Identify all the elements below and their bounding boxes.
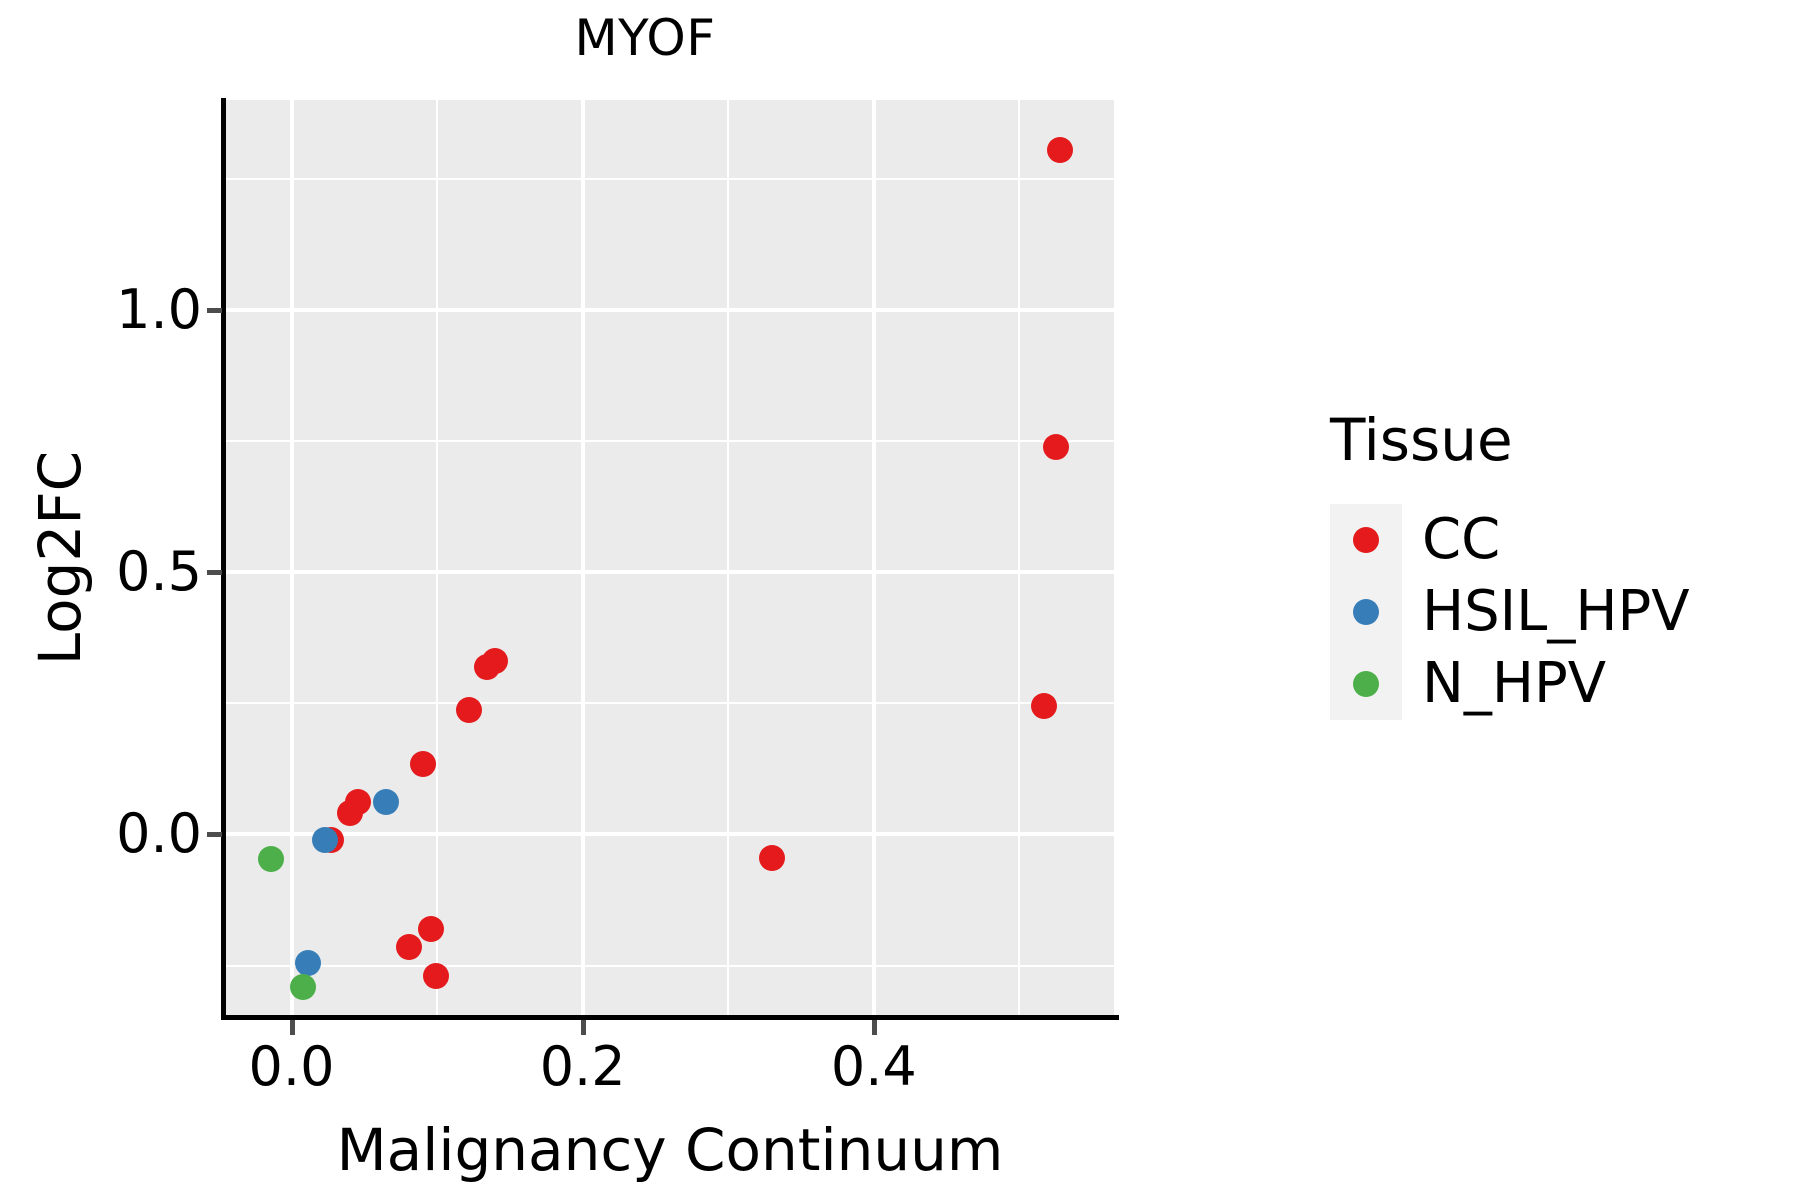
scatter-point-cc — [1043, 434, 1069, 460]
y-axis-title: Log2FC — [28, 208, 92, 908]
y-axis-tick — [207, 308, 222, 313]
gridline-horizontal-major — [226, 570, 1114, 574]
scatter-point-hsil_hpv — [295, 950, 321, 976]
scatter-point-cc — [1047, 137, 1073, 163]
gridline-vertical-major — [872, 100, 876, 1018]
scatter-point-cc — [410, 751, 436, 777]
gridline-horizontal-minor — [226, 702, 1114, 704]
y-axis-line — [221, 98, 226, 1020]
page-title: MYOF — [0, 8, 1290, 68]
gridline-horizontal-major — [226, 308, 1114, 312]
scatter-point-cc — [423, 963, 449, 989]
gridline-horizontal-minor — [226, 440, 1114, 442]
gridline-vertical-minor — [727, 100, 729, 1018]
gridline-horizontal-minor — [226, 178, 1114, 180]
scatter-point-cc — [337, 800, 363, 826]
scatter-point-cc — [418, 916, 444, 942]
y-axis-tick-label: 1.0 — [116, 283, 202, 337]
x-axis-tick — [290, 1020, 295, 1035]
scatter-point-cc — [396, 934, 422, 960]
chart-root: MYOF 0.00.51.00.00.20.4 Malignancy Conti… — [0, 0, 1800, 1200]
legend-title: Tissue — [1330, 410, 1513, 470]
y-axis-tick-label: 0.5 — [116, 545, 202, 599]
y-axis-tick — [207, 832, 222, 837]
gridline-horizontal-major — [226, 832, 1114, 836]
y-axis-tick — [207, 570, 222, 575]
legend-key-n_hpv[interactable] — [1330, 648, 1402, 720]
legend-label-cc: CC — [1422, 512, 1500, 568]
legend-key-cc[interactable] — [1330, 504, 1402, 576]
x-axis-tick-label: 0.0 — [192, 1040, 392, 1094]
scatter-point-hsil_hpv — [312, 827, 338, 853]
legend-label-n_hpv: N_HPV — [1422, 656, 1606, 712]
legend-key-hsil_hpv[interactable] — [1330, 576, 1402, 648]
gridline-horizontal-minor — [226, 965, 1114, 967]
scatter-point-n_hpv — [290, 974, 316, 1000]
x-axis-line — [221, 1015, 1119, 1020]
legend-marker-icon — [1353, 599, 1379, 625]
legend-label-hsil_hpv: HSIL_HPV — [1422, 584, 1690, 640]
legend-marker-icon — [1353, 527, 1379, 553]
x-axis-tick-label: 0.4 — [774, 1040, 974, 1094]
gridline-vertical-major — [290, 100, 294, 1018]
x-axis-title: Malignancy Continuum — [226, 1118, 1114, 1182]
gridline-vertical-minor — [1018, 100, 1020, 1018]
gridline-vertical-major — [581, 100, 585, 1018]
x-axis-tick — [872, 1020, 877, 1035]
scatter-point-cc — [1031, 693, 1057, 719]
gridline-vertical-minor — [436, 100, 438, 1018]
scatter-point-cc — [456, 697, 482, 723]
scatter-point-cc — [759, 845, 785, 871]
x-axis-tick — [581, 1020, 586, 1035]
plot-panel — [226, 100, 1114, 1018]
y-axis-tick-label: 0.0 — [116, 807, 202, 861]
x-axis-tick-label: 0.2 — [483, 1040, 683, 1094]
scatter-point-hsil_hpv — [373, 789, 399, 815]
scatter-point-cc — [474, 654, 500, 680]
scatter-point-n_hpv — [258, 846, 284, 872]
legend-marker-icon — [1353, 671, 1379, 697]
legend-keys — [1330, 504, 1402, 720]
